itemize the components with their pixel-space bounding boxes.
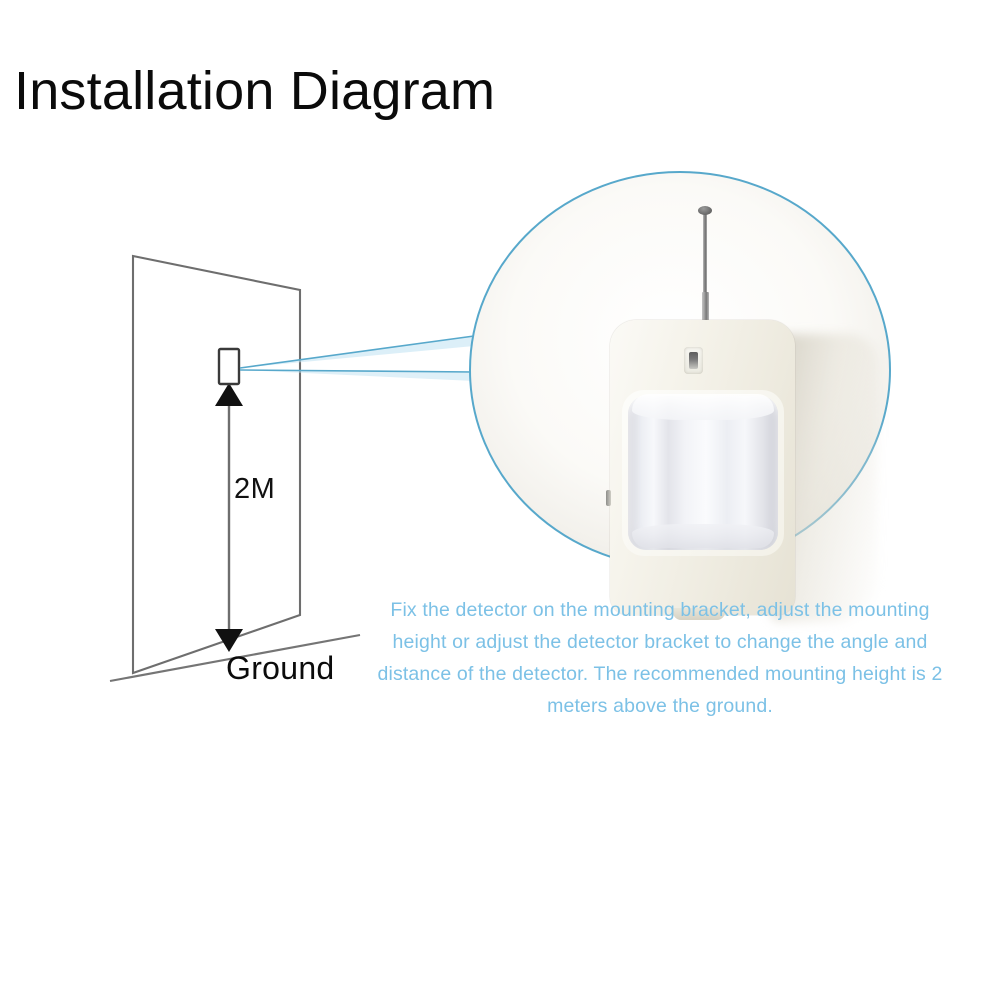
installation-caption: Fix the detector on the mounting bracket… bbox=[366, 594, 954, 722]
wall-mounted-sensor-icon bbox=[219, 349, 239, 384]
wall-shape bbox=[133, 256, 300, 673]
ground-label: Ground bbox=[226, 650, 335, 687]
installation-diagram-page: Installation Diagram bbox=[0, 0, 1000, 1000]
callout-circle bbox=[470, 172, 890, 568]
diagram-canvas bbox=[0, 0, 1000, 1000]
height-label: 2M bbox=[234, 473, 275, 506]
